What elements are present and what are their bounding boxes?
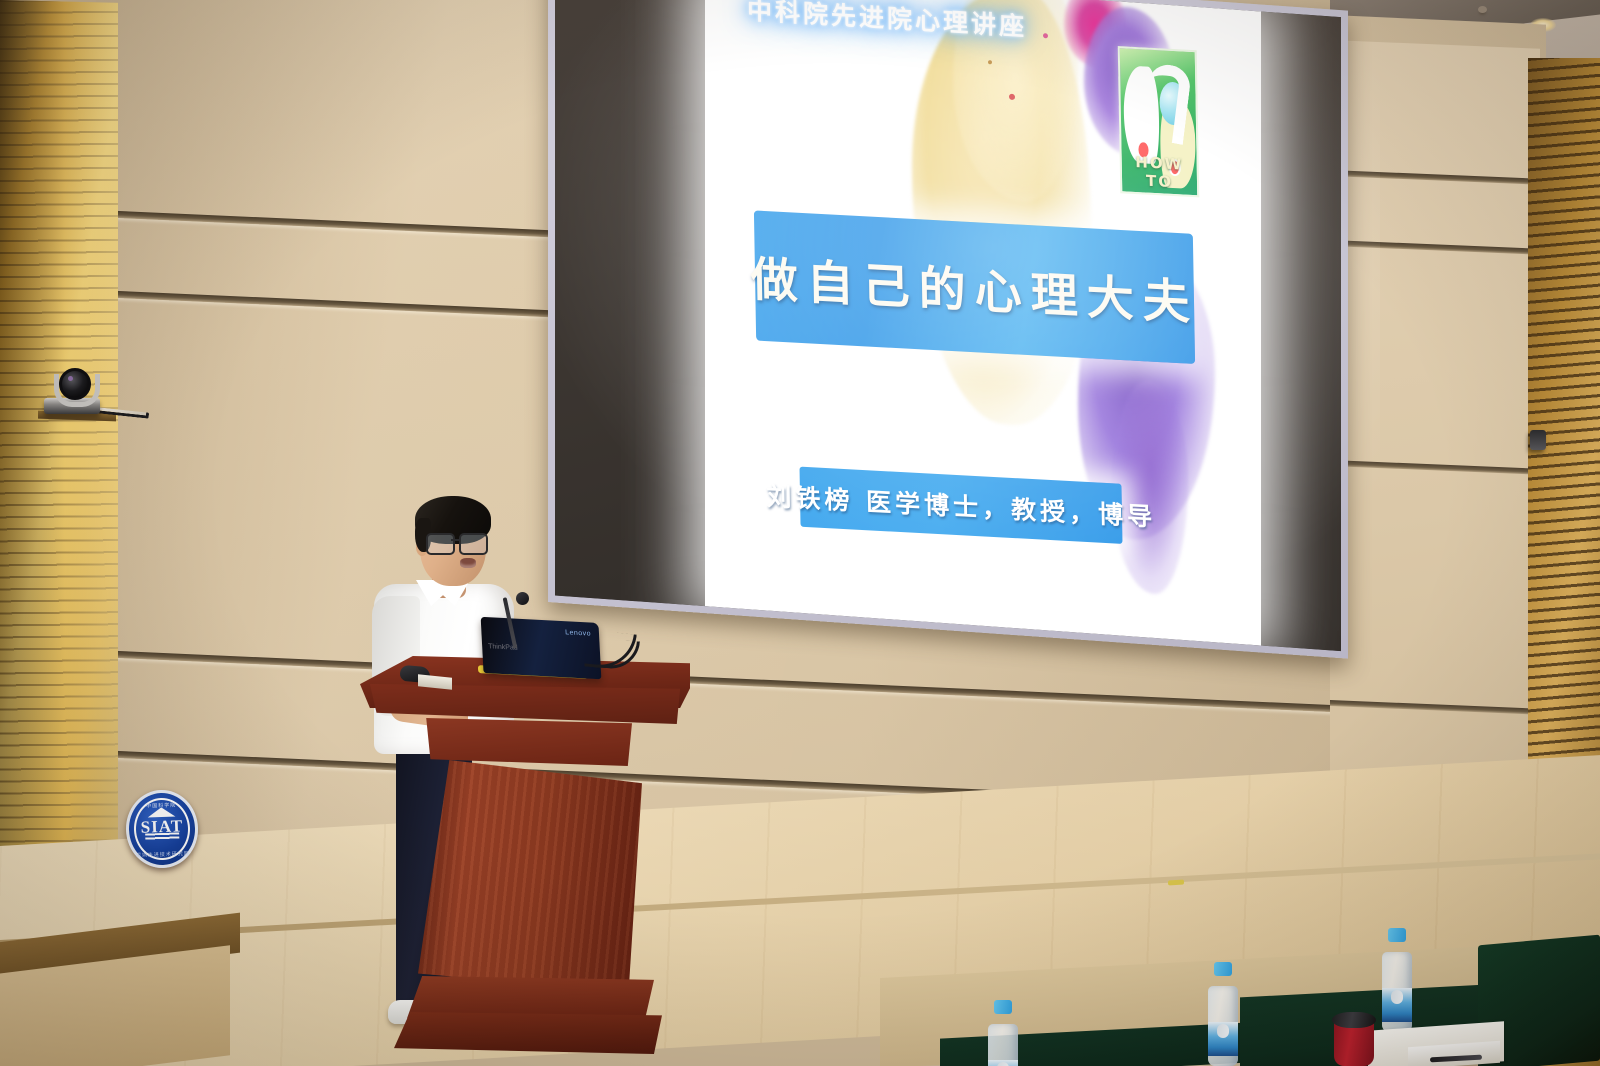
ptz-camera — [44, 366, 106, 418]
bottle-cap — [1214, 962, 1232, 976]
splash-blob-magenta — [1064, 0, 1126, 70]
podium-plinth — [394, 1012, 662, 1054]
splash-speck — [1043, 33, 1048, 38]
slide-presenter-band: 刘铁榜 医学博士，教授，博导 — [799, 467, 1122, 544]
screen-inner: 中科院先进院心理讲座 HOW TO 做自己的心理大夫 刘 — [555, 0, 1341, 651]
bottle-neck — [1391, 990, 1403, 1004]
water-bottle — [988, 1000, 1018, 1066]
bottle-cap — [1388, 928, 1406, 942]
podium-wood-grain — [418, 760, 642, 992]
glasses-lens-right — [459, 533, 488, 555]
podium-top-face — [360, 684, 690, 724]
sprinkler-icon — [1478, 6, 1487, 13]
emblem-arc-bottom-text: 深圳先进技术研究院 — [130, 851, 196, 859]
splash-blob-cream — [912, 0, 1091, 430]
floor-tape-marker — [1168, 880, 1184, 886]
glasses-lens-left — [426, 533, 455, 555]
how-to-logo: HOW TO — [1118, 46, 1200, 197]
screen-frame: 中科院先进院心理讲座 HOW TO 做自己的心理大夫 刘 — [548, 0, 1348, 659]
laptop: Lenovo ThinkPad — [481, 617, 602, 679]
slide-title-band: 做自己的心理大夫 — [754, 211, 1195, 365]
microphone-icon — [516, 592, 529, 605]
podium-body — [418, 760, 642, 992]
splash-speck — [988, 61, 992, 65]
slide-presenter-text: 刘铁榜 医学博士，教授，博导 — [766, 477, 1156, 534]
presenter-mouth — [460, 558, 476, 568]
projected-slide: 中科院先进院心理讲座 HOW TO 做自己的心理大夫 刘 — [705, 0, 1261, 645]
slide-header-text: 中科院先进院心理讲座 — [747, 0, 1027, 43]
cup-lid — [1332, 1012, 1376, 1028]
glasses-icon — [426, 533, 488, 552]
splash-blob-purple-3 — [1112, 378, 1188, 596]
water-bottle — [1382, 928, 1412, 1032]
wall-camera-icon — [1530, 430, 1546, 450]
glasses-bridge — [451, 539, 459, 541]
emblem-steps-icon — [145, 833, 180, 841]
camera-lens-glint — [68, 376, 73, 381]
lecture-hall-photo: 中科院先进院心理讲座 HOW TO 做自己的心理大夫 刘 — [0, 0, 1600, 1066]
wall-groove — [1330, 700, 1540, 715]
slide-title-text: 做自己的心理大夫 — [750, 241, 1199, 334]
acoustic-panel-right — [1261, 11, 1341, 651]
podium — [360, 656, 690, 1056]
podium-neck — [422, 718, 632, 766]
bottle-cap — [994, 1000, 1012, 1014]
splash-speck — [1009, 94, 1015, 100]
logo-label: HOW TO — [1123, 153, 1196, 193]
camera-lens-icon — [59, 368, 91, 400]
wall-groove — [1330, 240, 1540, 255]
wall-groove — [1330, 170, 1540, 185]
projection-screen: 中科院先进院心理讲座 HOW TO 做自己的心理大夫 刘 — [548, 0, 1348, 659]
water-bottle — [1208, 962, 1238, 1066]
wall-groove — [1330, 460, 1540, 475]
bottle-neck — [1217, 1024, 1229, 1038]
coffee-cup — [1332, 1008, 1376, 1066]
acoustic-panel-left — [555, 0, 705, 606]
